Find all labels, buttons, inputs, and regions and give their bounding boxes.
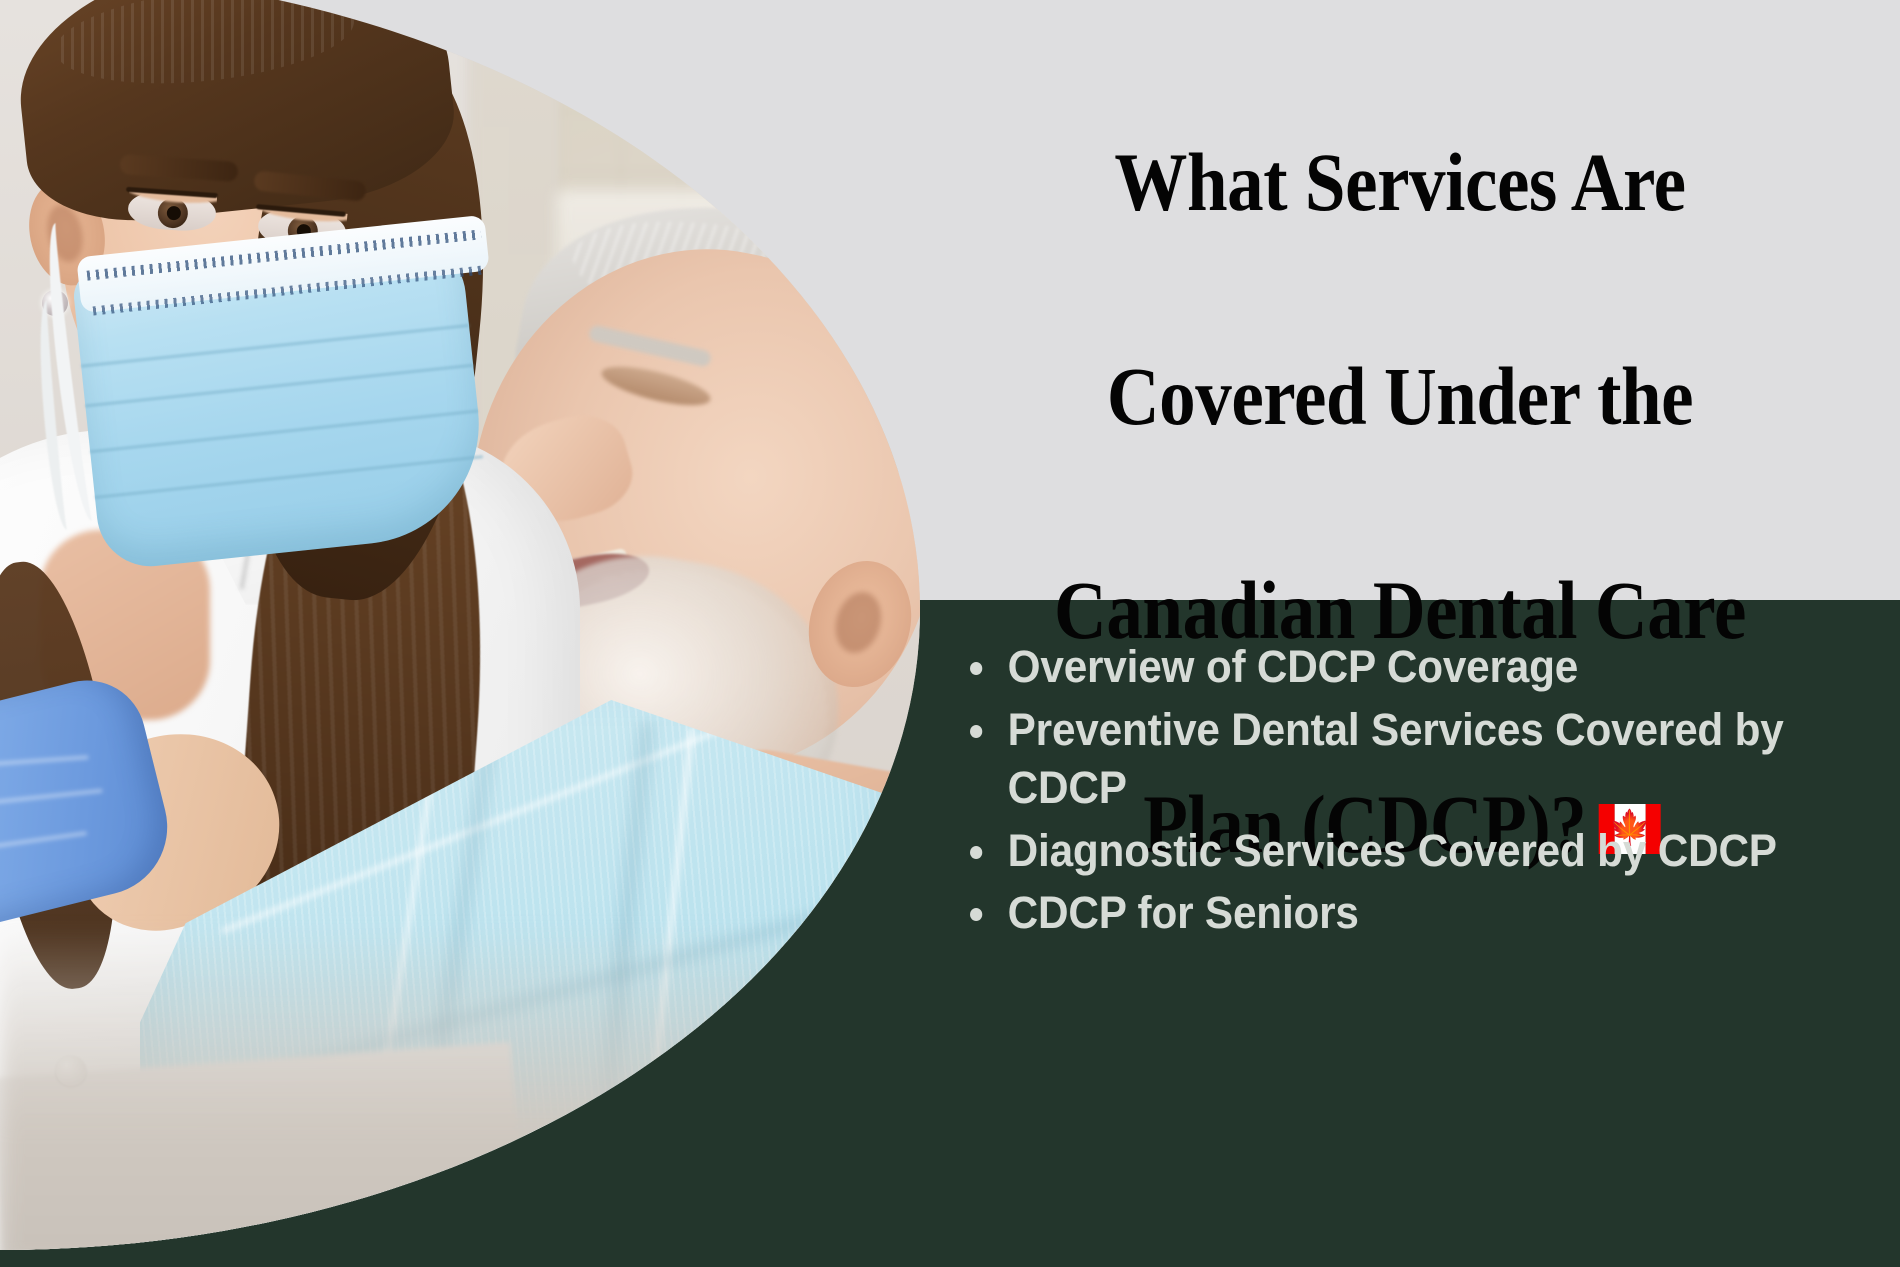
bullet-text-3: Diagnostic Services Covered by CDCP bbox=[1008, 825, 1777, 876]
list-item: Diagnostic Services Covered by CDCP bbox=[955, 822, 1801, 881]
glove-wrinkle bbox=[0, 831, 87, 861]
mask-pleat bbox=[90, 409, 478, 453]
list-item: Preventive Dental Services Covered by CD… bbox=[955, 701, 1801, 818]
bullet-text-1: Overview of CDCP Coverage bbox=[1008, 641, 1578, 692]
title-line-1: What Services Are bbox=[986, 129, 1813, 236]
mask-pleat bbox=[85, 364, 473, 408]
glove-wrinkle bbox=[0, 755, 89, 772]
list-item: Overview of CDCP Coverage bbox=[955, 638, 1801, 697]
bullet-list: Overview of CDCP Coverage Preventive Den… bbox=[955, 638, 1855, 947]
bullet-text-4: CDCP for Seniors bbox=[1008, 887, 1359, 938]
title-zone: What Services Are Covered Under the Cana… bbox=[900, 0, 1900, 600]
title-line-2: Covered Under the bbox=[986, 343, 1813, 450]
mask-pleat bbox=[81, 324, 469, 368]
poster-canvas: What Services Are Covered Under the Cana… bbox=[0, 0, 1900, 1267]
glove-wrinkle bbox=[0, 789, 103, 814]
bullet-text-2: Preventive Dental Services Covered by CD… bbox=[1008, 704, 1784, 814]
mask-pleat bbox=[95, 455, 483, 499]
list-item: CDCP for Seniors bbox=[955, 884, 1801, 943]
